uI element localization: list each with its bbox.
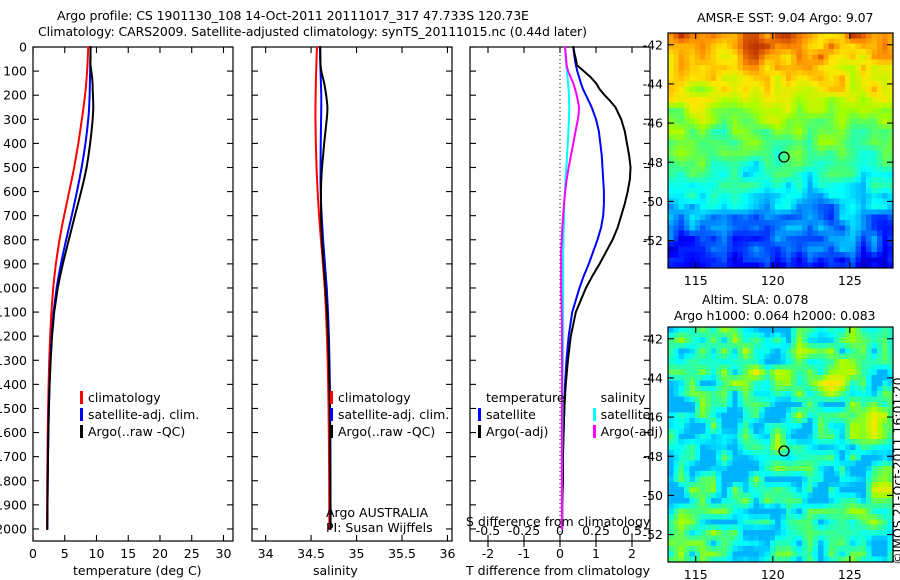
heatmap-cell xyxy=(850,247,856,253)
heatmap-cell xyxy=(818,188,824,194)
heatmap-cell xyxy=(764,380,770,386)
heatmap-cell xyxy=(706,370,712,376)
heatmap-cell xyxy=(759,231,765,237)
heatmap-cell xyxy=(695,375,701,381)
heatmap-cell xyxy=(754,140,760,146)
heatmap-cell xyxy=(872,332,878,338)
heatmap-cell xyxy=(770,177,776,183)
heatmap-cell xyxy=(716,86,722,92)
heatmap-cell xyxy=(818,140,824,146)
heatmap-cell xyxy=(834,359,840,365)
heatmap-cell xyxy=(711,450,717,456)
heatmap-cell xyxy=(882,215,888,221)
heatmap-cell xyxy=(845,220,851,226)
heatmap-cell xyxy=(823,428,829,434)
heatmap-cell xyxy=(743,487,749,493)
heatmap-cell xyxy=(786,418,792,424)
heatmap-cell xyxy=(791,455,797,461)
heatmap-cell xyxy=(754,134,760,140)
heatmap-cell xyxy=(743,140,749,146)
heatmap-cell xyxy=(706,327,712,333)
heatmap-cell xyxy=(791,519,797,525)
heatmap-cell xyxy=(668,124,674,130)
heatmap-cell xyxy=(791,161,797,167)
heatmap-cell xyxy=(882,450,888,456)
heatmap-cell xyxy=(727,247,733,253)
heatmap-cell xyxy=(732,535,738,541)
heatmap-cell xyxy=(877,466,883,472)
lat-tick-label: -42 xyxy=(643,331,663,346)
heatmap-cell xyxy=(695,172,701,178)
heatmap-cell xyxy=(770,487,776,493)
heatmap-cell xyxy=(823,199,829,205)
heatmap-cell xyxy=(695,225,701,231)
heatmap-cell xyxy=(872,113,878,119)
heatmap-cell xyxy=(716,407,722,413)
heatmap-cell xyxy=(722,386,728,392)
heatmap-cell xyxy=(850,348,856,354)
heatmap-cell xyxy=(834,461,840,467)
heatmap-cell xyxy=(711,118,717,124)
heatmap-cell xyxy=(856,252,862,258)
heatmap-cell xyxy=(866,241,872,247)
heatmap-cell xyxy=(759,391,765,397)
heatmap-cell xyxy=(775,519,781,525)
heatmap-cell xyxy=(711,108,717,114)
heatmap-cell xyxy=(823,231,829,237)
heatmap-cell xyxy=(882,428,888,434)
heatmap-cell xyxy=(679,209,685,215)
heatmap-cell xyxy=(706,257,712,263)
heatmap-cell xyxy=(882,241,888,247)
heatmap-cell xyxy=(759,386,765,392)
heatmap-cell xyxy=(727,503,733,509)
heatmap-cell xyxy=(802,236,808,242)
heatmap-cell xyxy=(754,407,760,413)
heatmap-cell xyxy=(781,482,787,488)
heatmap-cell xyxy=(716,354,722,360)
heatmap-cell xyxy=(877,370,883,376)
heatmap-cell xyxy=(856,498,862,504)
heatmap-cell xyxy=(813,257,819,263)
heatmap-cell xyxy=(856,487,862,493)
heatmap-cell xyxy=(711,49,717,55)
heatmap-cell xyxy=(872,439,878,445)
heatmap-cell xyxy=(722,183,728,189)
heatmap-cell xyxy=(813,33,819,39)
heatmap-cell xyxy=(716,396,722,402)
heatmap-cell xyxy=(882,380,888,386)
heatmap-cell xyxy=(850,113,856,119)
heatmap-cell xyxy=(770,145,776,151)
heatmap-cell xyxy=(845,487,851,493)
heatmap-cell xyxy=(845,252,851,258)
heatmap-cell xyxy=(813,396,819,402)
heatmap-cell xyxy=(668,54,674,60)
sla-map-plot-area: -42-44-46-48-50-52115120125 xyxy=(643,327,894,580)
heatmap-cell xyxy=(764,450,770,456)
heatmap-cell xyxy=(764,236,770,242)
heatmap-cell xyxy=(882,546,888,552)
heatmap-cell xyxy=(727,482,733,488)
heatmap-cell xyxy=(834,450,840,456)
heatmap-cell xyxy=(823,247,829,253)
heatmap-cell xyxy=(818,118,824,124)
heatmap-cell xyxy=(818,257,824,263)
heatmap-cell xyxy=(775,525,781,531)
heatmap-cell xyxy=(850,487,856,493)
heatmap-cell xyxy=(786,81,792,87)
heatmap-cell xyxy=(689,327,695,333)
heatmap-cell xyxy=(829,156,835,162)
heatmap-cell xyxy=(839,391,845,397)
heatmap-cell xyxy=(818,44,824,50)
heatmap-cell xyxy=(770,252,776,258)
heatmap-cell xyxy=(797,44,803,50)
heatmap-cell xyxy=(823,391,829,397)
heatmap-cell xyxy=(695,252,701,258)
heatmap-cell xyxy=(829,60,835,66)
heatmap-cell xyxy=(716,402,722,408)
heatmap-cell xyxy=(791,332,797,338)
heatmap-cell xyxy=(679,44,685,50)
heatmap-cell xyxy=(673,338,679,344)
heatmap-cell xyxy=(770,348,776,354)
heatmap-cell xyxy=(856,38,862,44)
heatmap-cell xyxy=(786,386,792,392)
heatmap-cell xyxy=(679,396,685,402)
heatmap-cell xyxy=(861,439,867,445)
heatmap-cell xyxy=(807,370,813,376)
heatmap-cell xyxy=(845,519,851,525)
heatmap-cell xyxy=(850,423,856,429)
heatmap-cell xyxy=(727,188,733,194)
heatmap-cell xyxy=(716,332,722,338)
heatmap-cell xyxy=(727,471,733,477)
heatmap-cell xyxy=(829,241,835,247)
heatmap-cell xyxy=(684,70,690,76)
heatmap-cell xyxy=(673,530,679,536)
heatmap-cell xyxy=(877,402,883,408)
heatmap-cell xyxy=(775,412,781,418)
heatmap-cell xyxy=(834,215,840,221)
heatmap-cell xyxy=(813,423,819,429)
heatmap-cell xyxy=(791,364,797,370)
heatmap-cell xyxy=(823,151,829,157)
heatmap-cell xyxy=(850,140,856,146)
heatmap-cell xyxy=(738,380,744,386)
heatmap-cell xyxy=(732,193,738,199)
heatmap-cell xyxy=(775,102,781,108)
heatmap-cell xyxy=(839,434,845,440)
heatmap-cell xyxy=(877,257,883,263)
heatmap-cell xyxy=(759,380,765,386)
heatmap-cell xyxy=(673,412,679,418)
heatmap-cell xyxy=(872,348,878,354)
heatmap-cell xyxy=(797,551,803,557)
heatmap-cell xyxy=(706,49,712,55)
heatmap-cell xyxy=(823,396,829,402)
heatmap-cell xyxy=(732,412,738,418)
heatmap-cell xyxy=(770,471,776,477)
heatmap-cell xyxy=(732,236,738,242)
heatmap-cell xyxy=(845,364,851,370)
heatmap-cell xyxy=(775,124,781,130)
heatmap-cell xyxy=(764,348,770,354)
heatmap-cell xyxy=(882,70,888,76)
heatmap-cell xyxy=(706,108,712,114)
heatmap-cell xyxy=(689,65,695,71)
heatmap-cell xyxy=(797,33,803,39)
heatmap-cell xyxy=(743,209,749,215)
heatmap-cell xyxy=(764,407,770,413)
heatmap-cell xyxy=(802,386,808,392)
heatmap-cell xyxy=(823,386,829,392)
heatmap-cell xyxy=(722,455,728,461)
heatmap-cell xyxy=(866,514,872,520)
heatmap-cell xyxy=(695,167,701,173)
heatmap-cell xyxy=(684,343,690,349)
heatmap-cell xyxy=(754,428,760,434)
heatmap-cell xyxy=(673,86,679,92)
heatmap-cell xyxy=(700,525,706,531)
heatmap-cell xyxy=(673,70,679,76)
heatmap-cell xyxy=(706,76,712,82)
heatmap-cell xyxy=(722,439,728,445)
heatmap-cell xyxy=(748,97,754,103)
heatmap-cell xyxy=(861,359,867,365)
heatmap-cell xyxy=(711,60,717,66)
heatmap-cell xyxy=(845,102,851,108)
heatmap-cell xyxy=(668,514,674,520)
heatmap-cell xyxy=(781,124,787,130)
heatmap-cell xyxy=(839,172,845,178)
heatmap-cell xyxy=(732,402,738,408)
heatmap-cell xyxy=(754,183,760,189)
heatmap-cell xyxy=(679,428,685,434)
heatmap-cell xyxy=(856,509,862,515)
heatmap-cell xyxy=(877,423,883,429)
heatmap-cell xyxy=(839,140,845,146)
heatmap-cell xyxy=(845,402,851,408)
heatmap-cell xyxy=(882,108,888,114)
heatmap-cell xyxy=(716,380,722,386)
heatmap-cell xyxy=(823,439,829,445)
heatmap-cell xyxy=(764,418,770,424)
heatmap-cell xyxy=(872,338,878,344)
heatmap-cell xyxy=(791,471,797,477)
heatmap-cell xyxy=(856,134,862,140)
heatmap-cell xyxy=(781,113,787,119)
heatmap-cell xyxy=(818,332,824,338)
heatmap-cell xyxy=(797,236,803,242)
heatmap-cell xyxy=(866,455,872,461)
heatmap-cell xyxy=(834,487,840,493)
heatmap-cell xyxy=(866,86,872,92)
heatmap-cell xyxy=(722,380,728,386)
heatmap-cell xyxy=(679,455,685,461)
heatmap-cell xyxy=(872,167,878,173)
heatmap-cell xyxy=(748,338,754,344)
difference-profile-plot-area: -2-1012-0.5-0.2500.250.5 xyxy=(470,47,650,561)
heatmap-cell xyxy=(668,204,674,210)
heatmap-cell xyxy=(711,44,717,50)
heatmap-cell xyxy=(706,247,712,253)
heatmap-cell xyxy=(861,183,867,189)
heatmap-cell xyxy=(807,332,813,338)
heatmap-cell xyxy=(807,49,813,55)
heatmap-cell xyxy=(866,445,872,451)
heatmap-cell xyxy=(668,102,674,108)
heatmap-cell xyxy=(706,364,712,370)
heatmap-cell xyxy=(748,327,754,333)
heatmap-cell xyxy=(829,113,835,119)
heatmap-cell xyxy=(754,327,760,333)
heatmap-cell xyxy=(689,509,695,515)
heatmap-cell xyxy=(732,92,738,98)
heatmap-cell xyxy=(770,118,776,124)
heatmap-cell xyxy=(738,167,744,173)
heatmap-cell xyxy=(802,124,808,130)
heatmap-cell xyxy=(872,49,878,55)
heatmap-cell xyxy=(839,525,845,531)
heatmap-cell xyxy=(797,49,803,55)
heatmap-cell xyxy=(727,428,733,434)
heatmap-cell xyxy=(711,402,717,408)
heatmap-cell xyxy=(732,33,738,39)
heatmap-cell xyxy=(856,199,862,205)
heatmap-cell xyxy=(727,375,733,381)
heatmap-cell xyxy=(732,418,738,424)
heatmap-cell xyxy=(866,225,872,231)
heatmap-cell xyxy=(791,134,797,140)
heatmap-cell xyxy=(754,514,760,520)
heatmap-cell xyxy=(823,65,829,71)
heatmap-cell xyxy=(813,54,819,60)
heatmap-cell xyxy=(684,391,690,397)
heatmap-cell xyxy=(872,407,878,413)
heatmap-cell xyxy=(689,503,695,509)
heatmap-cell xyxy=(679,33,685,39)
heatmap-cell xyxy=(872,530,878,536)
heatmap-cell xyxy=(764,551,770,557)
heatmap-cell xyxy=(834,86,840,92)
heatmap-cell xyxy=(802,503,808,509)
heatmap-cell xyxy=(861,434,867,440)
heatmap-cell xyxy=(818,546,824,552)
heatmap-cell xyxy=(807,65,813,71)
heatmap-cell xyxy=(716,370,722,376)
heatmap-cell xyxy=(738,204,744,210)
heatmap-cell xyxy=(856,391,862,397)
heatmap-cell xyxy=(861,471,867,477)
heatmap-cell xyxy=(727,380,733,386)
heatmap-cell xyxy=(823,257,829,263)
sst-map-plot-area: -42-44-46-48-50-52115120125 xyxy=(643,33,894,288)
heatmap-cell xyxy=(866,65,872,71)
heatmap-cell xyxy=(743,428,749,434)
heatmap-cell xyxy=(834,407,840,413)
heatmap-cell xyxy=(732,343,738,349)
heatmap-cell xyxy=(866,220,872,226)
heatmap-cell xyxy=(781,338,787,344)
heatmap-cell xyxy=(722,241,728,247)
heatmap-cell xyxy=(813,199,819,205)
heatmap-cell xyxy=(722,44,728,50)
heatmap-cell xyxy=(823,220,829,226)
heatmap-cell xyxy=(711,370,717,376)
legend-swatch-salinity-satellite xyxy=(593,408,596,421)
heatmap-cell xyxy=(679,482,685,488)
heatmap-cell xyxy=(673,151,679,157)
heatmap-cell xyxy=(770,530,776,536)
heatmap-cell xyxy=(877,407,883,413)
heatmap-cell xyxy=(711,199,717,205)
heatmap-cell xyxy=(791,428,797,434)
heatmap-cell xyxy=(813,343,819,349)
heatmap-cell xyxy=(722,60,728,66)
heatmap-cell xyxy=(748,455,754,461)
heatmap-cell xyxy=(668,359,674,365)
lat-tick-label: -52 xyxy=(643,527,663,542)
heatmap-cell xyxy=(882,509,888,515)
heatmap-cell xyxy=(689,102,695,108)
heatmap-cell xyxy=(695,391,701,397)
heatmap-cell xyxy=(877,209,883,215)
heatmap-cell xyxy=(807,38,813,44)
heatmap-cell xyxy=(764,455,770,461)
heatmap-cell xyxy=(845,466,851,472)
heatmap-cell xyxy=(872,423,878,429)
heatmap-cell xyxy=(786,49,792,55)
heatmap-cell xyxy=(770,236,776,242)
heatmap-cell xyxy=(716,118,722,124)
heatmap-cell xyxy=(845,428,851,434)
heatmap-cell xyxy=(786,477,792,483)
heatmap-cell xyxy=(839,199,845,205)
heatmap-cell xyxy=(732,338,738,344)
heatmap-cell xyxy=(700,70,706,76)
heatmap-cell xyxy=(823,535,829,541)
heatmap-cell xyxy=(743,402,749,408)
heatmap-cell xyxy=(722,70,728,76)
heatmap-cell xyxy=(706,65,712,71)
heatmap-cell xyxy=(727,455,733,461)
heatmap-cell xyxy=(743,530,749,536)
heatmap-cell xyxy=(839,332,845,338)
heatmap-cell xyxy=(839,167,845,173)
heatmap-cell xyxy=(866,391,872,397)
heatmap-cell xyxy=(679,92,685,98)
heatmap-cell xyxy=(850,65,856,71)
heatmap-cell xyxy=(813,551,819,557)
heatmap-cell xyxy=(748,466,754,472)
heatmap-cell xyxy=(786,161,792,167)
heatmap-cell xyxy=(706,551,712,557)
heatmap-cell xyxy=(781,193,787,199)
heatmap-cell xyxy=(882,386,888,392)
heatmap-cell xyxy=(802,391,808,397)
heatmap-cell xyxy=(839,551,845,557)
heatmap-cell xyxy=(711,124,717,130)
legend-header: salinity xyxy=(593,388,663,405)
heatmap-cell xyxy=(754,466,760,472)
heatmap-cell xyxy=(786,541,792,547)
heatmap-cell xyxy=(856,455,862,461)
heatmap-cell xyxy=(770,70,776,76)
heatmap-cell xyxy=(722,33,728,39)
heatmap-cell xyxy=(706,407,712,413)
